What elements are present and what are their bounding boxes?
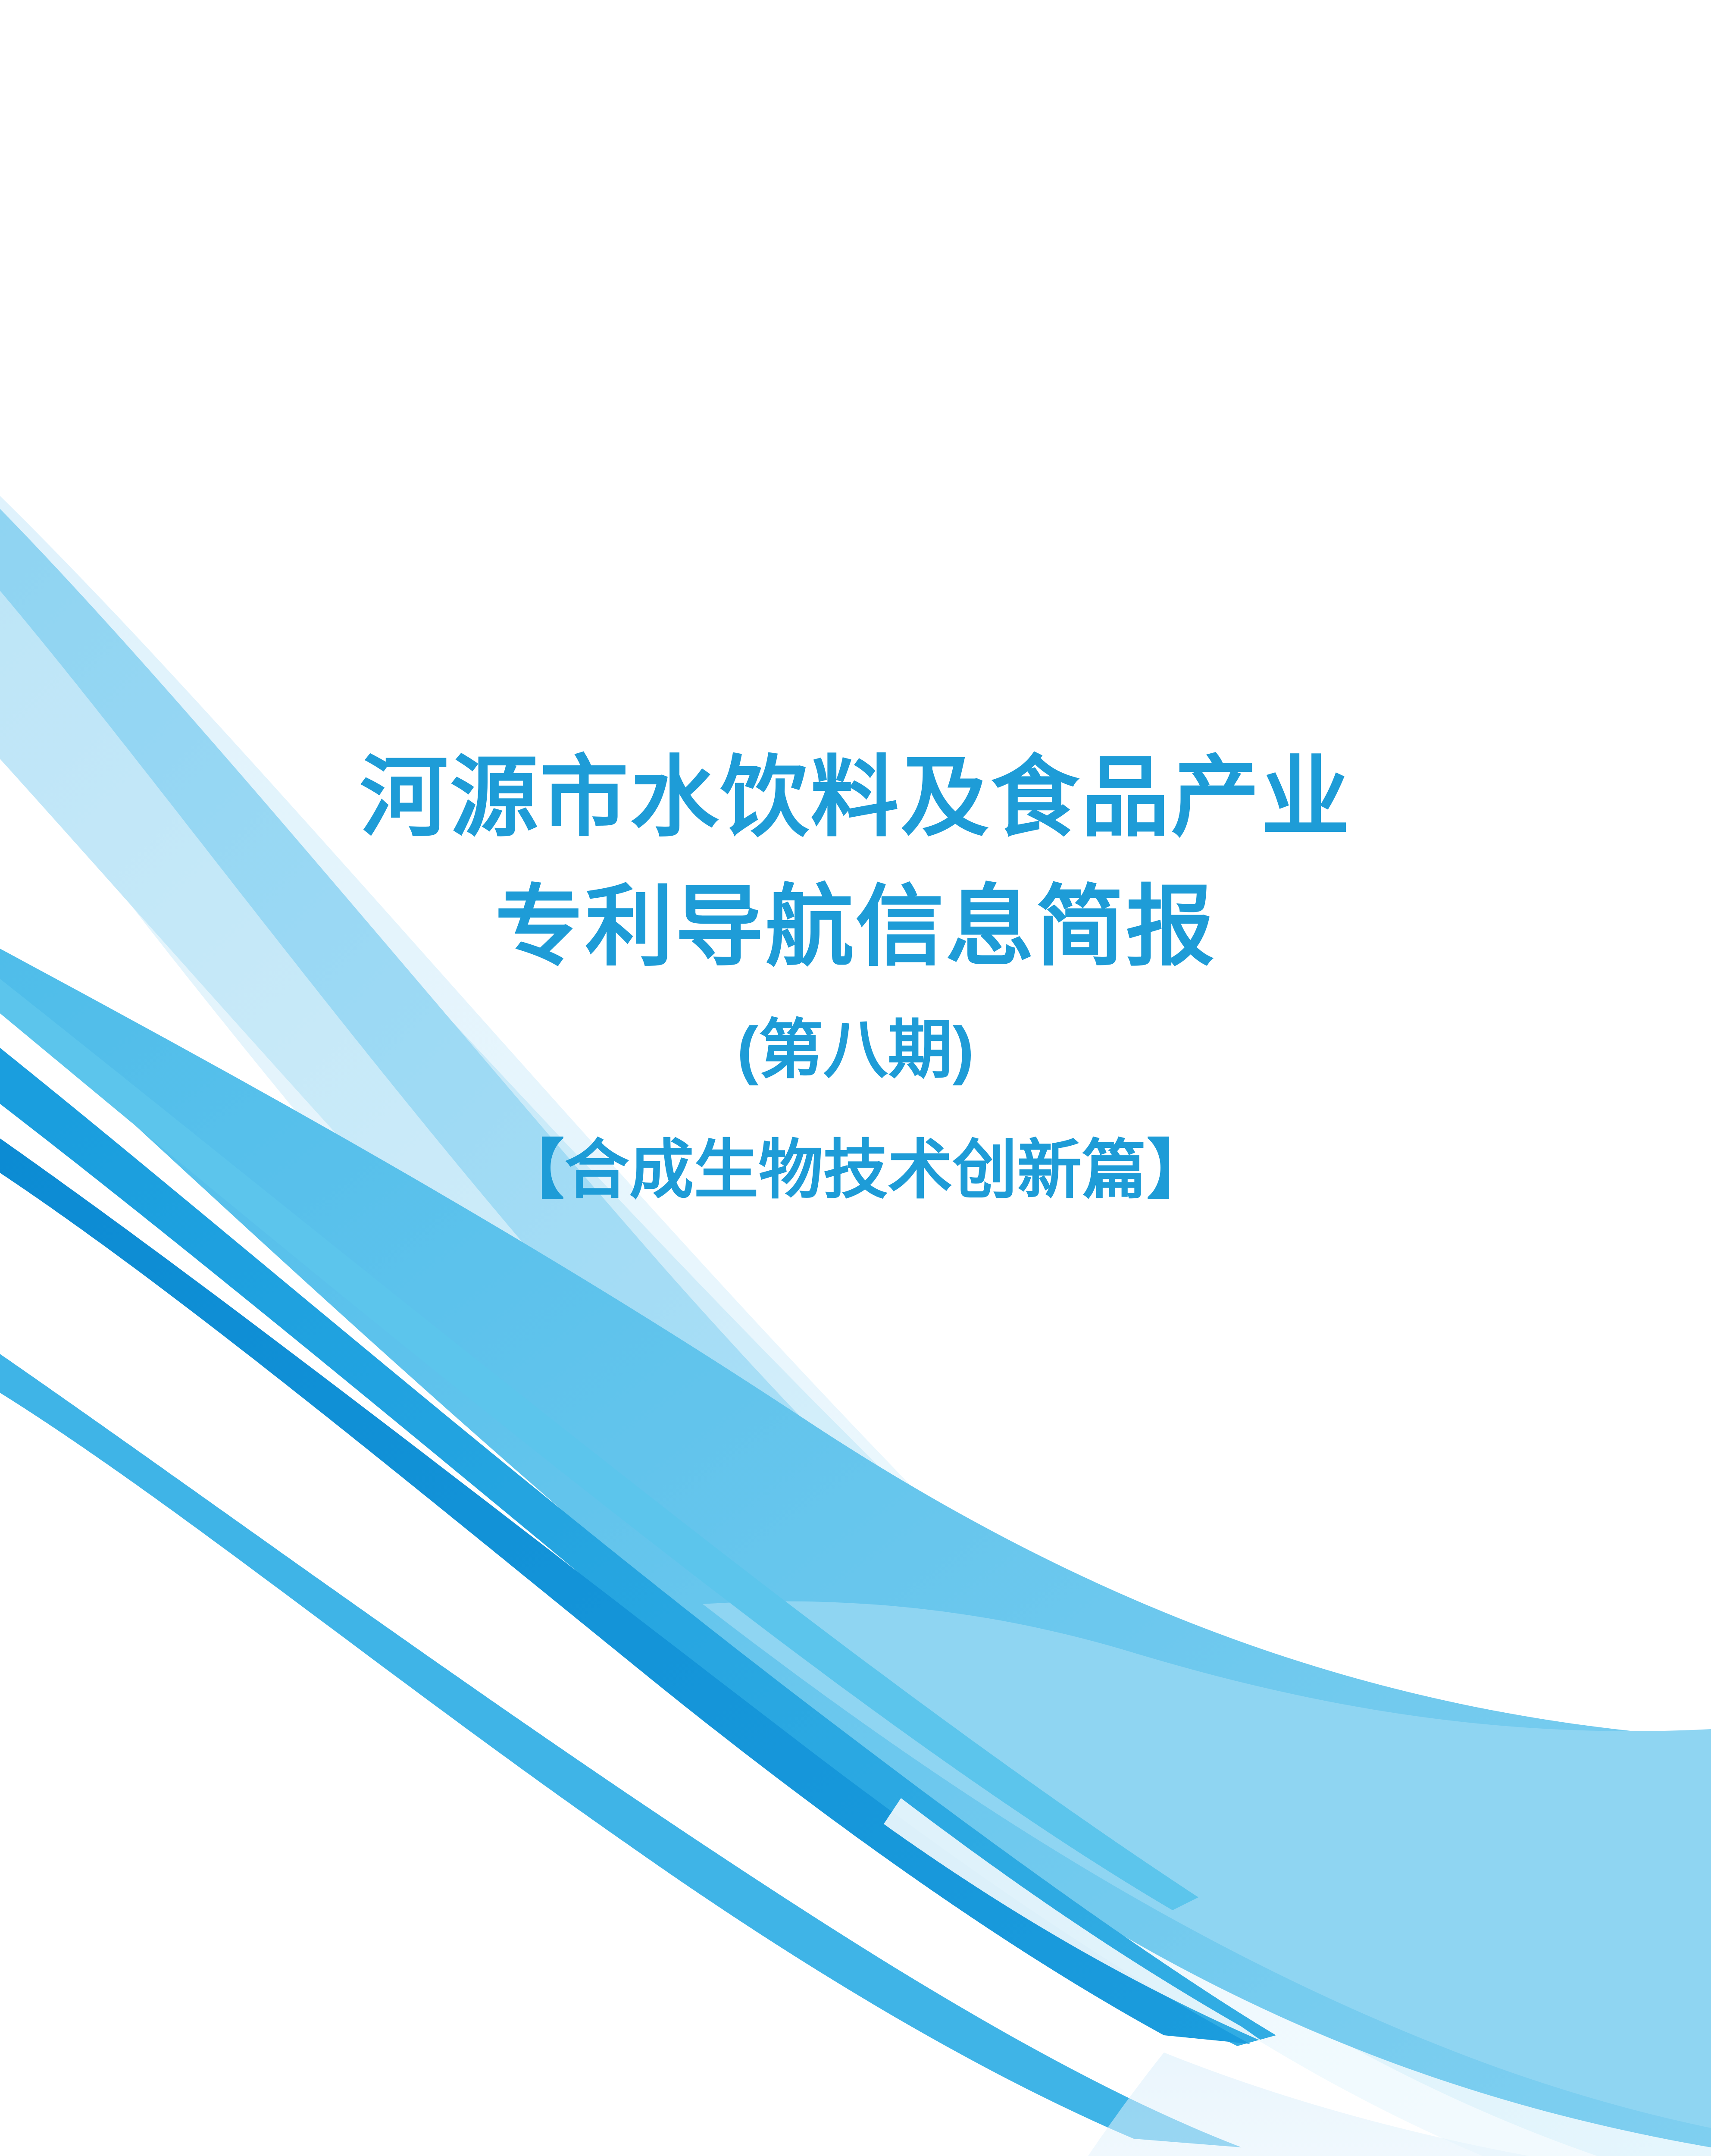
title-block: 河源市水饮料及食品产业 专利导航信息简报 (第八期) 【合成生物技术创新篇】 — [0, 733, 1711, 1232]
issuer-block: 河源市市场监督管理局 广州奥凯信息咨询有限公司 — [0, 2139, 1711, 2156]
page-title-line-1: 河源市水饮料及食品产业 — [0, 733, 1711, 862]
issue-number: (第八期) — [0, 992, 1711, 1107]
page-title-line-2: 专利导航信息简报 — [0, 862, 1711, 992]
issuer-organization: 河源市市场监督管理局 — [0, 2139, 1711, 2156]
document-cover-page: 河源市水饮料及食品产业 专利导航信息简报 (第八期) 【合成生物技术创新篇】 河… — [0, 0, 1711, 2156]
ribbon-band-lower-sweep — [0, 1354, 1242, 2147]
ribbon-white-sliver — [884, 1798, 1263, 2042]
topic-subtitle: 【合成生物技术创新篇】 — [0, 1107, 1711, 1232]
ribbon-band-right-sheet — [703, 1601, 1711, 2128]
ribbon-band-deep — [0, 1138, 1250, 2044]
